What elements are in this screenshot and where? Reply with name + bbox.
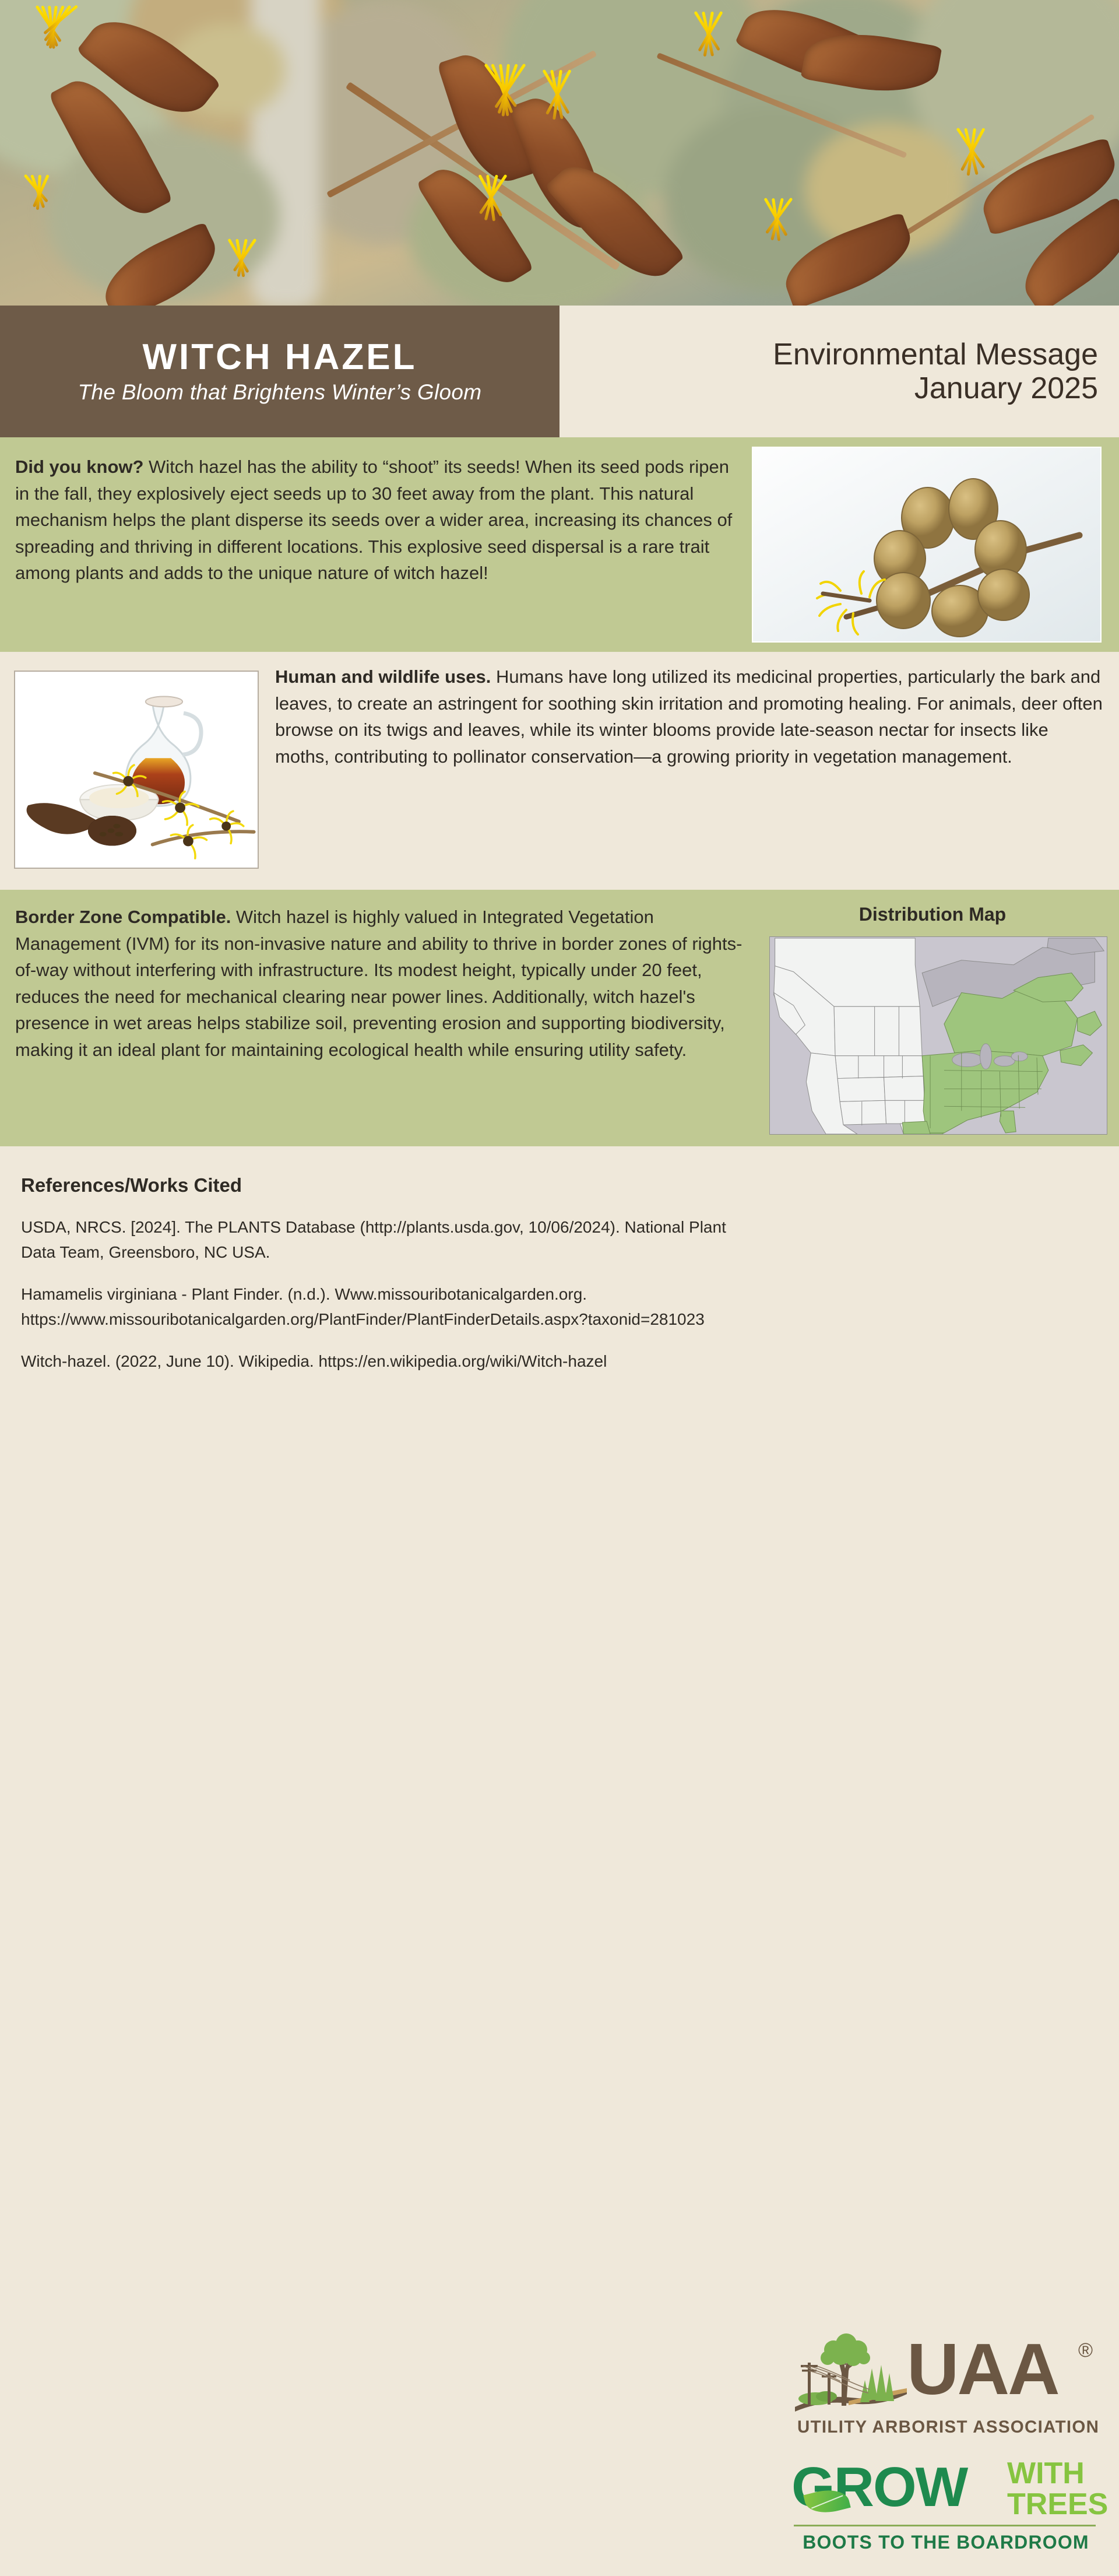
border-zone-text: Border Zone Compatible. Witch hazel is h… bbox=[15, 904, 747, 1063]
reference-entry: USDA, NRCS. [2024]. The PLANTS Database … bbox=[21, 1215, 755, 1265]
publication-meta: Environmental Message January 2025 bbox=[559, 306, 1119, 437]
human-wildlife-text: Human and wildlife uses. Humans have lon… bbox=[275, 664, 1106, 770]
publication-name: Environmental Message bbox=[773, 338, 1098, 371]
references-heading: References/Works Cited bbox=[21, 1174, 242, 1196]
grow-with-trees-logo: GROW WITH TREES BOOTS TO THE BOARDROOM bbox=[791, 2459, 1100, 2576]
page-tagline: The Bloom that Brightens Winter’s Gloom bbox=[78, 380, 482, 405]
extract-illustration bbox=[15, 672, 258, 868]
did-you-know-text: Did you know? Witch hazel has the abilit… bbox=[15, 454, 744, 587]
border-zone-section: Border Zone Compatible. Witch hazel is h… bbox=[0, 890, 1119, 1146]
north-america-map bbox=[770, 937, 1107, 1134]
distribution-map bbox=[769, 936, 1107, 1135]
logo-area: UAA ® UTILITY ARBORIST ASSOCIATION GROW … bbox=[787, 2330, 1102, 2575]
uaa-full-name: UTILITY ARBORIST ASSOCIATION bbox=[797, 2417, 1105, 2437]
human-wildlife-section: Human and wildlife uses. Humans have lon… bbox=[0, 652, 1119, 890]
seed-pods-photo bbox=[752, 447, 1102, 643]
human-wildlife-lead: Human and wildlife uses. bbox=[275, 666, 491, 687]
title-band: WITCH HAZEL The Bloom that Brightens Win… bbox=[0, 306, 559, 437]
witch-hazel-extract-photo bbox=[14, 671, 259, 869]
with-trees-wordmark: WITH TREES bbox=[1007, 2458, 1108, 2520]
border-zone-body: Witch hazel is highly valued in Integrat… bbox=[15, 907, 742, 1060]
reference-entry: Hamamelis virginiana - Plant Finder. (n.… bbox=[21, 1282, 755, 1332]
hero-banner-photo bbox=[0, 0, 1119, 307]
uaa-acronym: UAA bbox=[907, 2333, 1058, 2406]
distribution-map-title: Distribution Map bbox=[758, 904, 1107, 925]
did-you-know-lead: Did you know? bbox=[15, 457, 143, 477]
logo-divider bbox=[794, 2525, 1096, 2526]
grow-tagline: BOOTS TO THE BOARDROOM bbox=[794, 2532, 1098, 2553]
trees-label: TREES bbox=[1007, 2489, 1108, 2520]
hero-foreground-branches bbox=[0, 0, 1119, 307]
references-list: USDA, NRCS. [2024]. The PLANTS Database … bbox=[21, 1215, 755, 1392]
border-zone-lead: Border Zone Compatible. bbox=[15, 907, 231, 927]
with-label: WITH bbox=[1007, 2458, 1108, 2489]
page-title: WITCH HAZEL bbox=[142, 338, 417, 376]
uaa-tree-powerline-icon bbox=[793, 2332, 909, 2420]
reference-entry: Witch-hazel. (2022, June 10). Wikipedia.… bbox=[21, 1349, 755, 1374]
uaa-logo: UAA ® UTILITY ARBORIST ASSOCIATION bbox=[793, 2330, 1096, 2435]
references-section: References/Works Cited USDA, NRCS. [2024… bbox=[0, 1146, 1119, 1449]
issue-date: January 2025 bbox=[914, 371, 1098, 405]
did-you-know-section: Did you know? Witch hazel has the abilit… bbox=[0, 437, 1119, 652]
registered-trademark-icon: ® bbox=[1078, 2339, 1093, 2362]
seed-pods-illustration bbox=[753, 448, 1102, 643]
